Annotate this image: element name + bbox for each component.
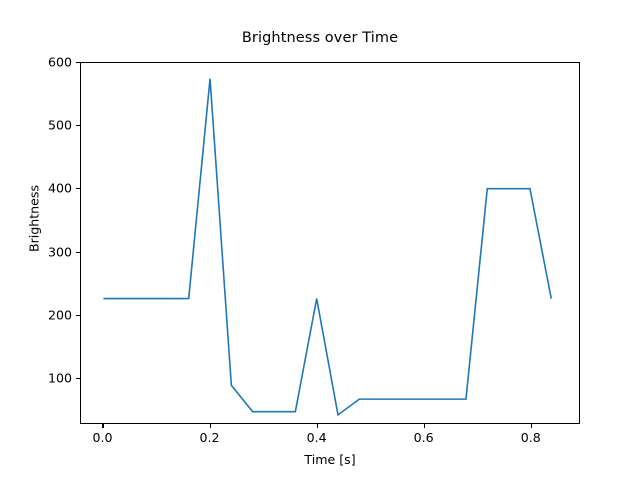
line-chart-svg [81,63,579,423]
matplotlib-figure: Brightness over Time Brightness 10020030… [0,0,640,480]
x-axis-tick-mark [210,424,211,428]
x-axis-tick-mark [424,424,425,428]
plot-area [80,62,580,424]
page-title: Brightness over Time [0,30,640,46]
x-axis-tick-label: 0.6 [394,430,454,445]
y-axis-tick-label: 100 [12,370,72,385]
y-axis-tick-label: 600 [12,55,72,70]
x-axis-tick-label: 0.2 [180,430,240,445]
y-axis-tick-label: 400 [12,181,72,196]
y-axis-tick-label: 500 [12,118,72,133]
x-axis-tick-mark [317,424,318,428]
y-axis-tick-label: 200 [12,307,72,322]
x-axis-tick-label: 0.4 [287,430,347,445]
y-axis-tick-label: 300 [12,244,72,259]
x-axis-tick-label: 0.8 [501,430,561,445]
data-series-brightness [103,79,551,415]
y-axis-tick-labels: 100200300400500600 [8,0,72,480]
x-axis-tick-mark [531,424,532,428]
x-axis-label: Time [s] [80,452,580,467]
x-axis-tick-label: 0.0 [72,430,132,445]
x-axis-tick-mark [102,424,103,428]
